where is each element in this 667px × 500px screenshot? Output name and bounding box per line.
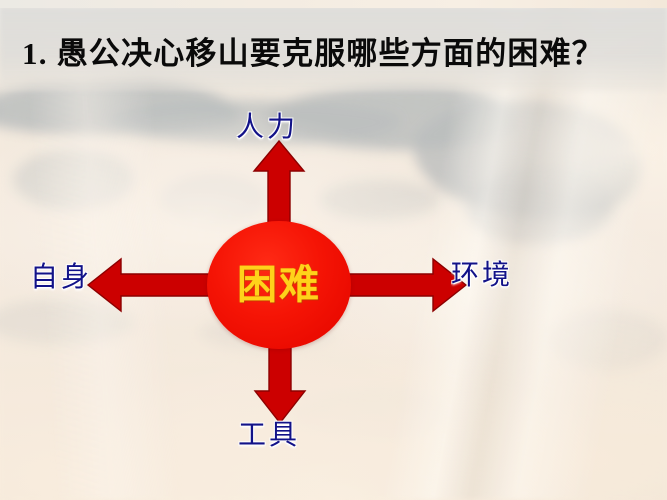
arrow-right-icon bbox=[343, 259, 466, 311]
radial-arrow-diagram: 困难 人力 环境 工具 自身 bbox=[0, 0, 667, 500]
node-label-manpower: 人力 bbox=[236, 105, 298, 145]
arrow-up-icon bbox=[254, 141, 304, 233]
node-label-environment: 环境 bbox=[451, 253, 513, 293]
node-label-self: 自身 bbox=[30, 255, 92, 295]
arrow-down-icon bbox=[255, 337, 305, 423]
center-node-label: 困难 bbox=[237, 265, 321, 305]
slide-canvas: 1. 愚公决心移山要克服哪些方面的困难？ bbox=[0, 0, 667, 500]
arrow-left-icon bbox=[88, 259, 216, 311]
node-label-tools: 工具 bbox=[238, 413, 300, 453]
center-node-difficulty: 困难 bbox=[207, 221, 351, 349]
